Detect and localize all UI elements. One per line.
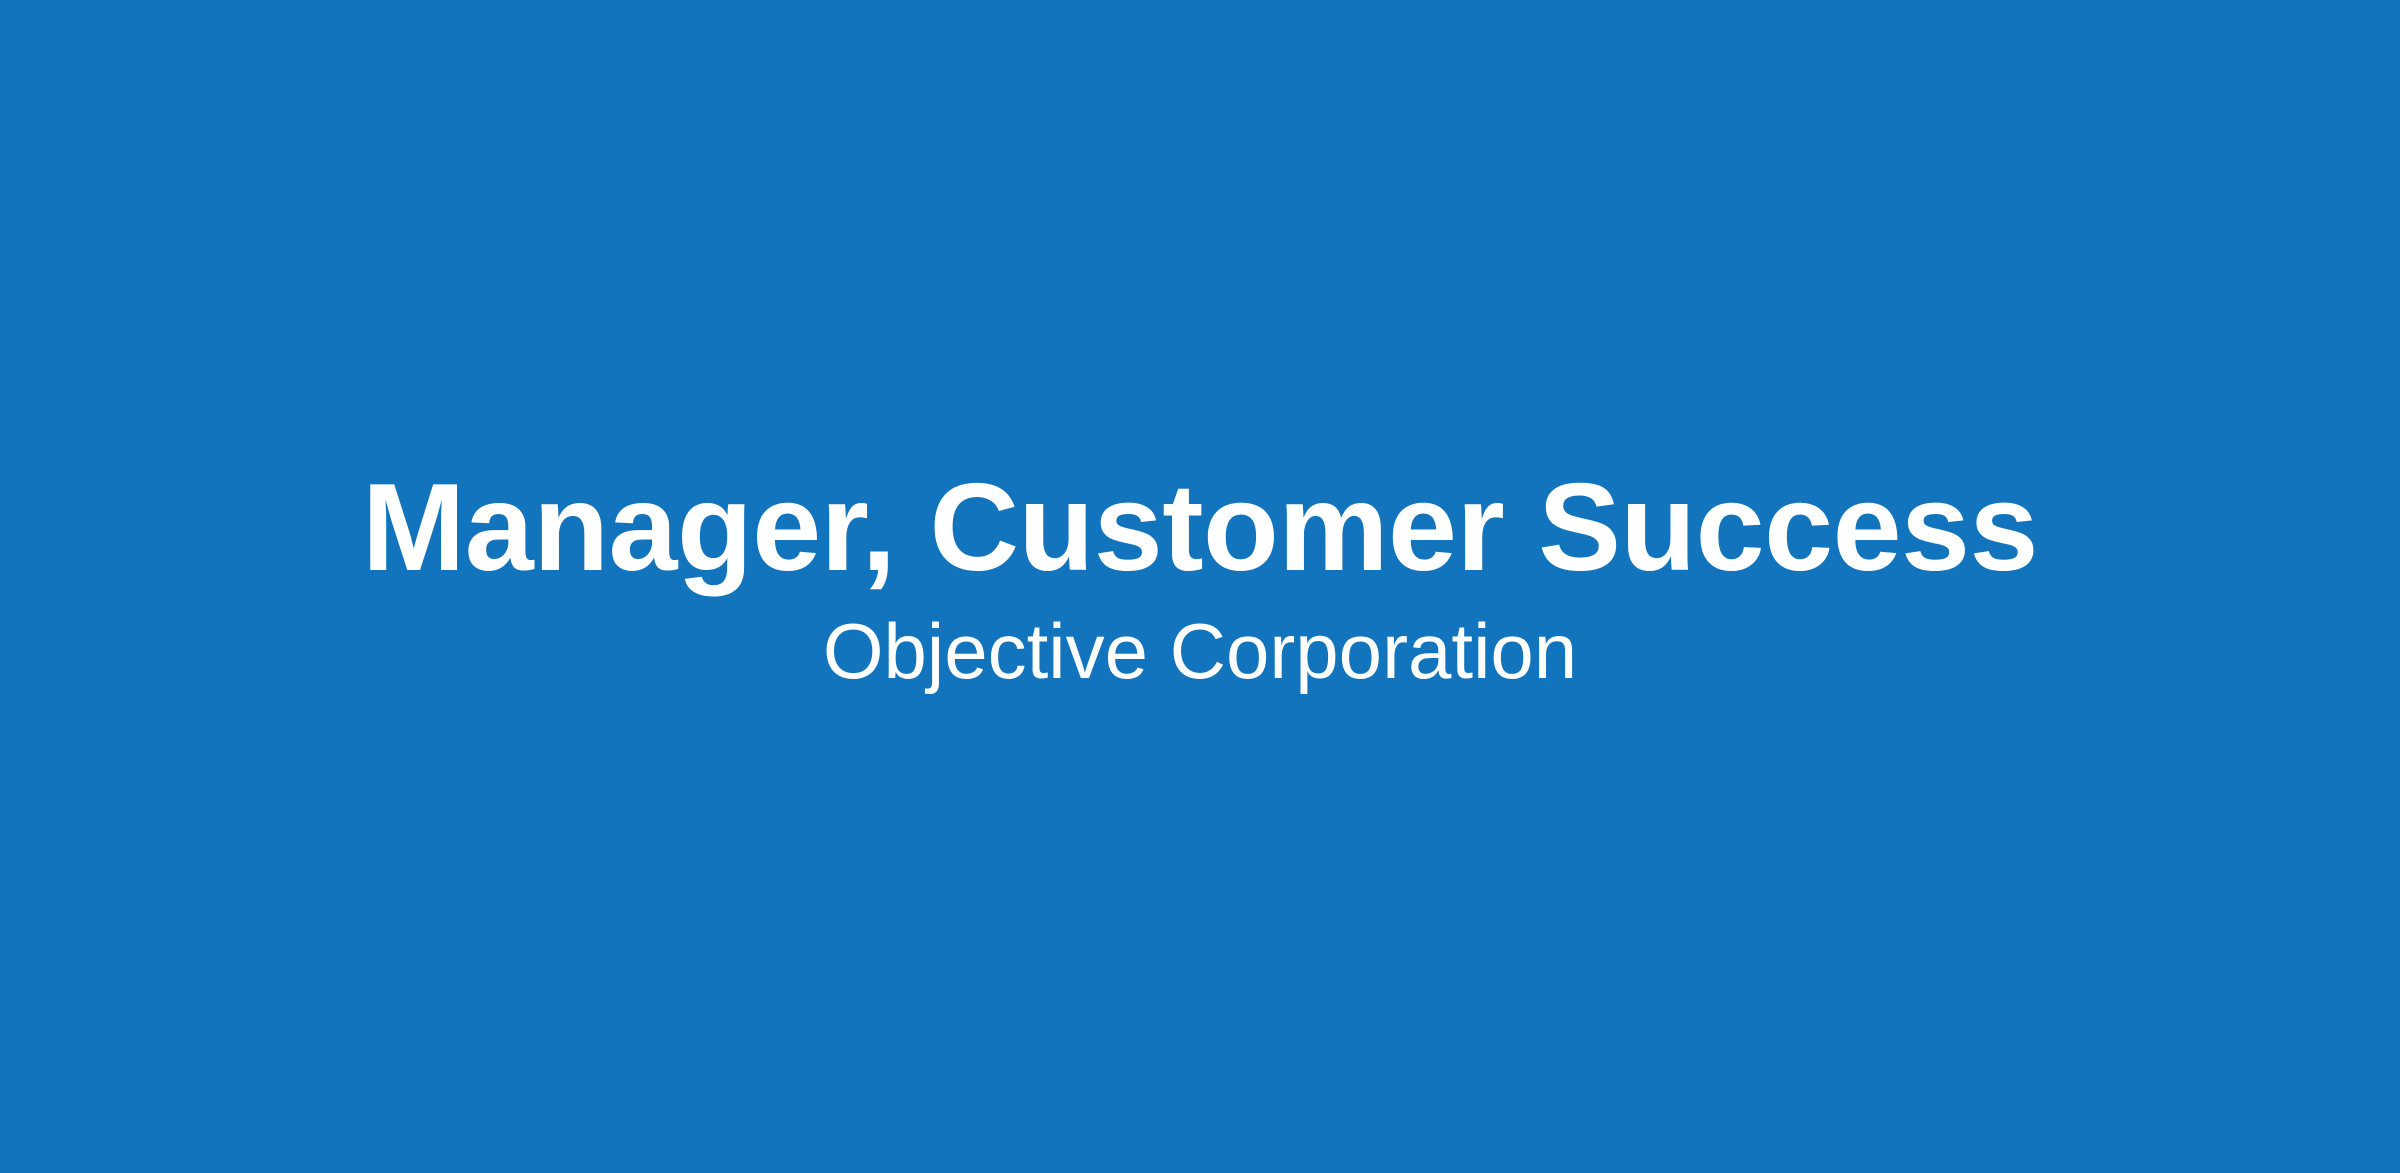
company-name: Objective Corporation [823, 612, 1577, 690]
banner-text-block: Manager, Customer Success Objective Corp… [0, 466, 2400, 690]
job-banner: Manager, Customer Success Objective Corp… [0, 0, 2400, 1173]
job-title: Manager, Customer Success [362, 466, 2038, 590]
